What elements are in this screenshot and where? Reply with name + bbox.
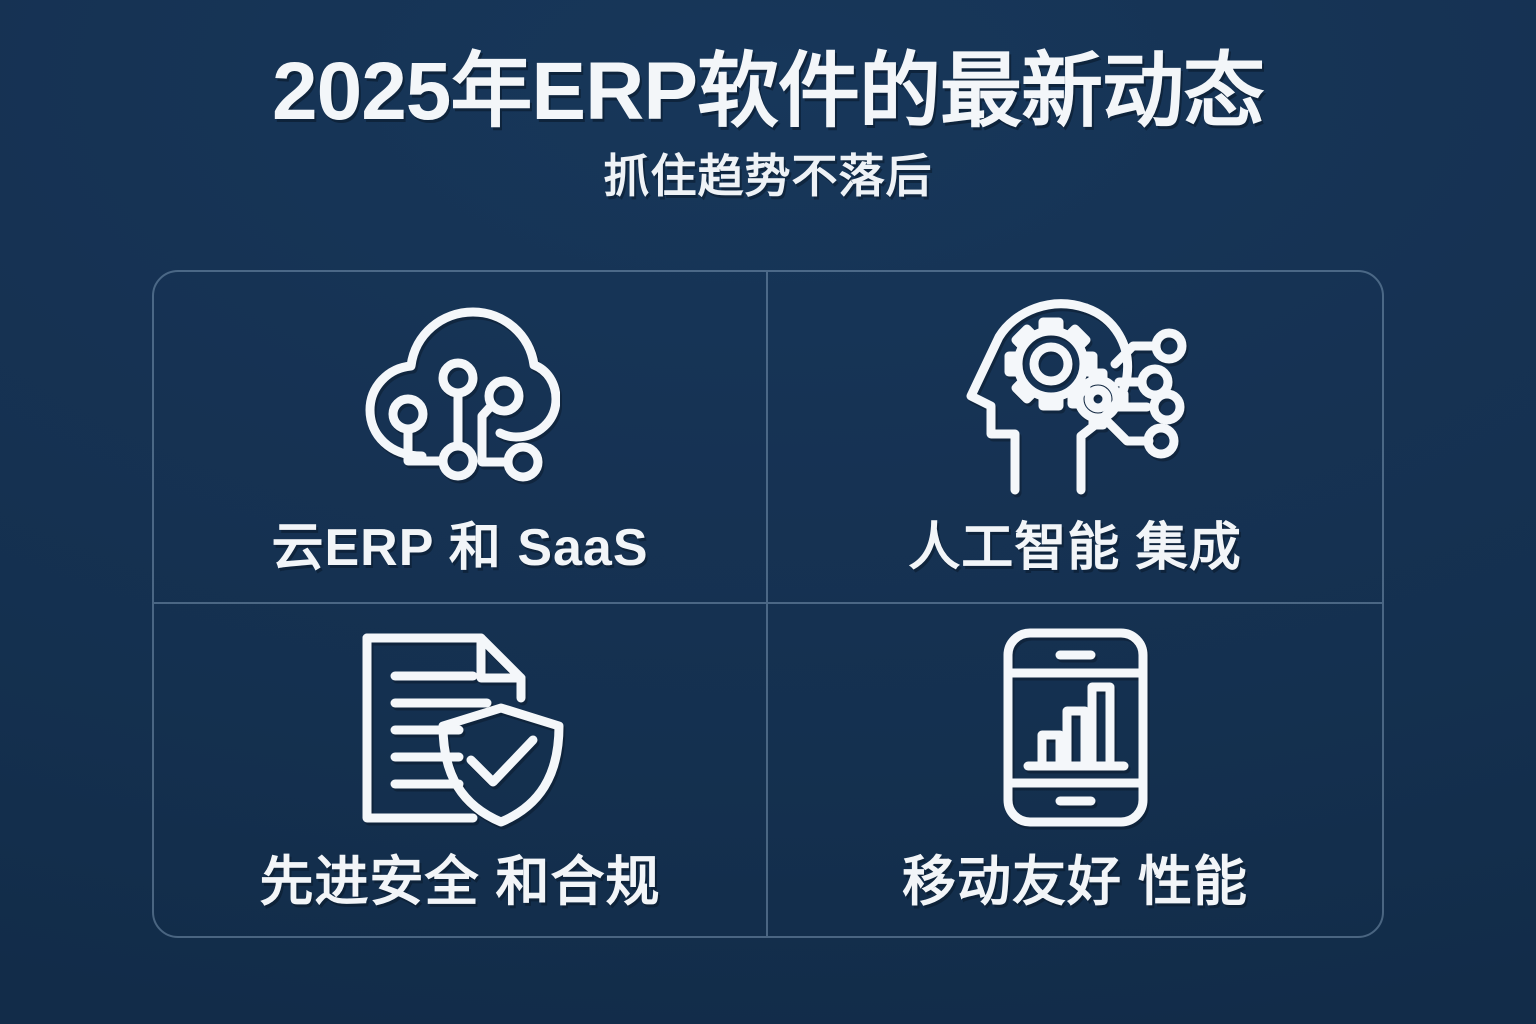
feature-card-ai-integration[interactable]: 人工智能 集成 — [768, 272, 1382, 604]
page-subtitle: 抓住趋势不落后 — [0, 151, 1536, 202]
feature-grid: 云ERP 和 SaaS — [152, 270, 1384, 938]
page-title: 2025年ERP软件的最新动态 — [0, 48, 1536, 137]
document-shield-check-icon — [353, 623, 568, 833]
feature-card-label: 人工智能 集成 — [908, 519, 1241, 579]
infographic-slide: 2025年ERP软件的最新动态 抓住趋势不落后 — [0, 0, 1536, 1024]
feature-card-advanced-security-compliance[interactable]: 先进安全 和合规 — [154, 604, 768, 936]
ai-brain-gear-icon — [955, 291, 1195, 501]
mobile-bar-chart-icon — [998, 623, 1153, 833]
feature-card-label: 云ERP 和 SaaS — [271, 519, 648, 579]
feature-card-cloud-erp-saas[interactable]: 云ERP 和 SaaS — [154, 272, 768, 604]
cloud-circuit-icon — [360, 291, 560, 501]
feature-card-label: 移动友好 性能 — [902, 851, 1248, 913]
feature-card-mobile-friendly-performance[interactable]: 移动友好 性能 — [768, 604, 1382, 936]
header: 2025年ERP软件的最新动态 抓住趋势不落后 — [0, 0, 1536, 201]
feature-card-label: 先进安全 和合规 — [259, 851, 660, 913]
